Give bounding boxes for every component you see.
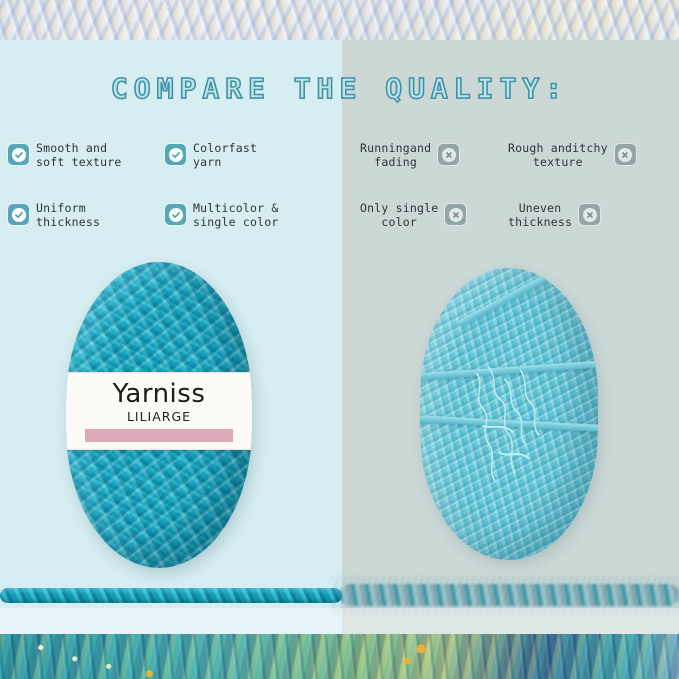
feature-item-only-single-color: Only single color [360,202,466,229]
feature-label: Uneven thickness [508,202,572,229]
cross-icon [445,204,466,225]
cons-column-2: Rough anditchy texture Uneven thickness [508,138,673,250]
bottom-white-band [0,608,679,634]
yarn-ball-bad [420,268,598,560]
feature-item-smooth-soft-texture: Smooth and soft texture [8,142,121,169]
frayed-fibers [459,356,559,502]
comparison-infographic: COMPARE THE QUALITY: Smooth and soft tex… [0,0,679,679]
yarn-strand-frayed [340,584,679,606]
feature-label: Uniform thickness [36,202,100,229]
feature-label: Rough anditchy texture [508,142,608,169]
pros-column-2: Colorfast yarn Multicolor & single color [165,138,330,250]
paint-texture-top [0,0,679,44]
cross-icon-disc [618,148,632,162]
feature-label: Runningand fading [360,142,431,169]
painted-background-top [0,0,679,44]
feature-label: Colorfast yarn [193,142,257,169]
cross-icon [438,144,459,165]
feature-grid: Smooth and soft texture Uniform thicknes… [0,138,679,250]
cross-icon [615,144,636,165]
brand-subtitle: LILIARGE [85,409,233,424]
feature-item-multicolor-single-color: Multicolor & single color [165,202,278,229]
label-color-bar [85,429,233,442]
check-icon [8,204,29,225]
cross-icon-disc [442,148,456,162]
painted-background-bottom [0,634,679,679]
feature-item-uneven-thickness: Uneven thickness [508,202,600,229]
check-icon-disc [12,148,26,162]
yarn-strand-smooth [0,588,342,603]
cons-column-1: Runningand fading Only single color [360,138,525,250]
feature-label: Smooth and soft texture [36,142,121,169]
brand-name: Yarniss [85,380,233,408]
yarn-ball-good: Yarniss LILIARGE [66,262,252,568]
feature-item-uniform-thickness: Uniform thickness [8,202,100,229]
check-icon-disc [169,148,183,162]
cross-icon [579,204,600,225]
paint-highlights [0,634,679,679]
product-label: Yarniss LILIARGE [66,372,252,450]
check-icon [8,144,29,165]
feature-item-colorfast-yarn: Colorfast yarn [165,142,257,169]
check-icon-disc [169,208,183,222]
product-label-inner: Yarniss LILIARGE [85,380,233,442]
cross-icon-disc [583,208,597,222]
feature-item-running-and-fading: Runningand fading [360,142,459,169]
check-icon [165,204,186,225]
check-icon-disc [12,208,26,222]
cross-icon-disc [449,208,463,222]
pros-column-1: Smooth and soft texture Uniform thicknes… [8,138,173,250]
feature-item-rough-and-itchy-texture: Rough anditchy texture [508,142,636,169]
page-title: COMPARE THE QUALITY: [0,72,679,105]
feature-label: Multicolor & single color [193,202,278,229]
feature-label: Only single color [360,202,438,229]
check-icon [165,144,186,165]
